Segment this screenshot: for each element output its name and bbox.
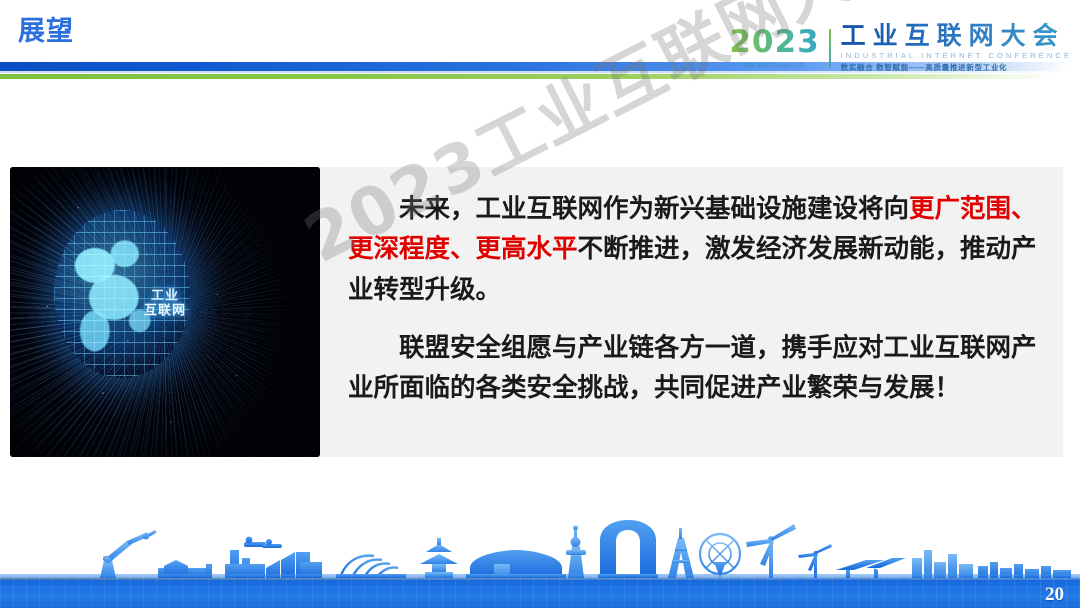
lattice-tower-icon xyxy=(668,528,694,578)
pagoda-icon xyxy=(420,538,458,578)
gate-of-the-orient-icon xyxy=(598,520,658,578)
logo-year-block: 2023 中国·苏州 9月14日-15日 xyxy=(729,27,828,69)
wind-turbine-icon xyxy=(746,524,796,578)
exhibition-hall-icon xyxy=(466,550,566,578)
slide-footer: 20 xyxy=(0,516,1080,608)
header-rule-green xyxy=(0,74,1080,79)
tv-tower-icon xyxy=(566,526,586,578)
globe-overlay-label: 工业 互联网 xyxy=(144,289,186,318)
body-paragraph-2: 联盟安全组愿与产业链各方一道，携手应对工业互联网产业所面临的各类安全挑战，共同促… xyxy=(348,328,1049,409)
logo-name-en: INDUSTRIAL INTERNET CONFERENCE xyxy=(841,51,1072,60)
robot-arm-icon xyxy=(100,530,157,578)
city-skyline-illustration xyxy=(0,516,1080,578)
logo-name-block: 工业互联网大会 INDUSTRIAL INTERNET CONFERENCE 数… xyxy=(841,23,1072,72)
wind-turbine-small-icon xyxy=(798,544,832,578)
body-text: 联盟安全组愿与产业链各方一道，携手应对工业互联网产业所面临的各类安全挑战，共同促… xyxy=(348,333,1037,403)
body-paragraph-1: 未来，工业互联网作为新兴基础设施建设将向更广范围、更深程度、更高水平不断推进，激… xyxy=(348,189,1049,310)
conference-logo: 2023 中国·苏州 9月14日-15日 工业互联网大会 INDUSTRIAL … xyxy=(729,22,1072,74)
footer-band xyxy=(0,578,1080,608)
globe-figure: 工业 互联网 xyxy=(10,167,320,457)
server-rack-icon xyxy=(912,550,973,578)
ferris-wheel-icon xyxy=(700,534,740,578)
logo-name-cn: 工业互联网大会 xyxy=(841,23,1072,49)
body-text: 未来，工业互联网作为新兴基础设施建设将向 xyxy=(399,194,909,224)
globe-overlay-line-2: 互联网 xyxy=(144,303,186,318)
content-card: 工业 互联网 未来，工业互联网作为新兴基础设施建设将向更广范围、更深程度、更高水… xyxy=(10,167,1063,457)
logo-divider xyxy=(829,29,831,67)
page-number: 20 xyxy=(1045,585,1064,604)
logo-slogan: 数实融合 数智赋能——高质量推进新型工业化 xyxy=(841,62,1072,73)
slide-root: 展望 2023 中国·苏州 9月14日-15日 工业互联网大会 INDUSTRI… xyxy=(0,0,1080,608)
logo-year-subtitle: 中国·苏州 9月14日-15日 xyxy=(744,61,805,69)
factory-icon xyxy=(225,537,322,578)
page-title: 展望 xyxy=(18,18,74,45)
logo-year-number: 2023 xyxy=(729,27,819,58)
text-panel: 未来，工业互联网作为新兴基础设施建设将向更广范围、更深程度、更高水平不断推进，激… xyxy=(320,167,1063,457)
globe-overlay-line-1: 工业 xyxy=(144,289,186,304)
